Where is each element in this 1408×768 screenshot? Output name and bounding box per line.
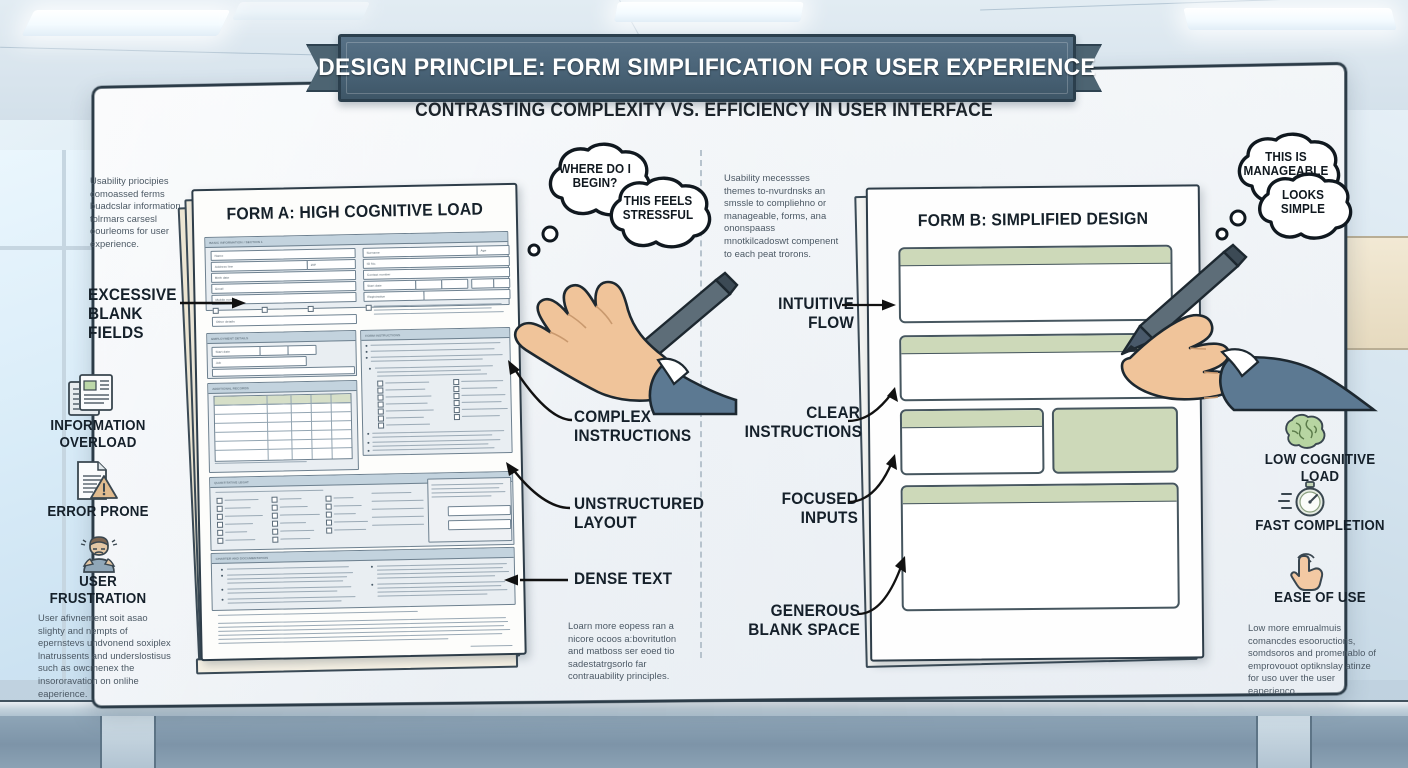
- arrow-to-intuitive-flow: [842, 297, 898, 313]
- form-a-field[interactable]: ZIP: [307, 259, 356, 270]
- form-a-field[interactable]: [448, 519, 511, 530]
- right-top-blurb: Usability mecessses themes to-nvurdnsks …: [724, 172, 840, 260]
- arrow-to-clear-instructions: [848, 383, 906, 425]
- form-a-checkbox[interactable]: [377, 380, 384, 387]
- form-a-checkbox[interactable]: [453, 379, 460, 386]
- feature-label-error-prone: ERROR PRONE: [30, 504, 166, 521]
- frustrated-user-icon: [74, 534, 124, 574]
- feature-label-information-overload: INFORMATION OVERLOAD: [30, 418, 166, 452]
- arrow-to-blank-fields: [178, 296, 248, 310]
- page-subtitle: CONTRASTING COMPLEXITY VS. EFFICIENCY IN…: [56, 100, 1351, 122]
- feature-label-fast-completion: FAST COMPLETION: [1245, 518, 1396, 535]
- form-a-checkbox[interactable]: [453, 393, 460, 400]
- form-a-sheet: FORM A: HIGH COGNITIVE LOAD BASIC INFORM…: [191, 183, 526, 661]
- form-a-field[interactable]: [415, 279, 442, 290]
- arrow-to-generous-blank-space: [854, 552, 916, 620]
- ribbon-body: DESIGN PRINCIPLE: FORM SIMPLIFICATION FO…: [338, 34, 1076, 102]
- form-a-checkbox[interactable]: [377, 387, 384, 394]
- form-a-checkbox[interactable]: [454, 414, 461, 421]
- desk-front: [0, 716, 1408, 768]
- form-a-checkbox[interactable]: [454, 407, 461, 414]
- arrow-to-dense-text: [500, 568, 570, 588]
- form-b-field-label: [903, 485, 1177, 505]
- form-b-filled-block[interactable]: [1052, 407, 1179, 474]
- form-a-field[interactable]: [441, 279, 468, 290]
- thought-bubble-dots-right: [1210, 208, 1254, 248]
- hand-left-writing: [478, 244, 738, 414]
- form-a-checkbox[interactable]: [272, 529, 279, 536]
- documents-stack-icon: [66, 372, 126, 418]
- page-title: DESIGN PRINCIPLE: FORM SIMPLIFICATION FO…: [318, 54, 1096, 82]
- ceiling-light-2: [232, 2, 370, 20]
- desk-leg-left: [100, 716, 156, 768]
- callout-intuitive-flow: INTUITIVE FLOW: [752, 295, 854, 333]
- form-a-field[interactable]: [287, 345, 316, 356]
- document-warning-icon: [72, 460, 124, 502]
- form-a-checkbox[interactable]: [217, 530, 224, 537]
- callout-clear-instructions: CLEAR INSTRUCTIONS: [745, 404, 860, 442]
- form-a-checkbox[interactable]: [378, 415, 385, 422]
- callout-focused-inputs: FOCUSED INPUTS: [752, 490, 858, 528]
- hand-right-writing: [1078, 230, 1378, 410]
- form-a-checkbox[interactable]: [325, 496, 332, 503]
- callout-dense-text: DENSE TEXT: [574, 570, 695, 589]
- form-a-checkbox[interactable]: [326, 504, 333, 511]
- form-a-field[interactable]: Address line: [211, 260, 308, 272]
- feature-label-user-frustration: USER FRUSTRATION: [30, 574, 166, 608]
- form-a-checkbox[interactable]: [272, 537, 279, 544]
- form-a-checkbox[interactable]: [366, 305, 373, 312]
- form-b-title: FORM B: SIMPLIFIED DESIGN: [880, 209, 1187, 232]
- form-a-field[interactable]: [259, 345, 288, 356]
- form-a-checkbox[interactable]: [326, 520, 333, 527]
- form-a-checkbox[interactable]: [378, 401, 385, 408]
- form-a-checkbox[interactable]: [271, 497, 278, 504]
- form-a-checkbox[interactable]: [272, 513, 279, 520]
- brain-icon: [1282, 412, 1328, 450]
- form-a-checkbox[interactable]: [217, 506, 224, 513]
- center-blurb: Loarn more eopess ran a nicore ocoos a:b…: [568, 620, 682, 683]
- feature-label-ease-of-use: EASE OF USE: [1245, 590, 1396, 607]
- thought-bubble-text-4: LOOKS SIMPLE: [1256, 188, 1351, 216]
- form-a-checkbox[interactable]: [378, 408, 385, 415]
- left-bottom-blurb: User afivnement soit asao slighty and ne…: [38, 612, 176, 700]
- form-a-checkbox[interactable]: [377, 394, 384, 401]
- thought-bubble-dots-left: [520, 224, 566, 264]
- form-a-checkbox[interactable]: [217, 538, 224, 545]
- form-a-checkbox[interactable]: [262, 307, 269, 314]
- right-bottom-blurb: Low more emrualmuis comancdes esooructio…: [1248, 622, 1384, 698]
- form-a-checkbox[interactable]: [217, 514, 224, 521]
- form-a-checkbox[interactable]: [326, 528, 333, 535]
- form-b-field-label: [902, 410, 1042, 428]
- arrow-to-unstructured-layout: [500, 460, 574, 516]
- ceiling-light-1: [22, 10, 231, 36]
- ceiling-light-3: [614, 2, 804, 22]
- infographic-canvas: DESIGN PRINCIPLE: FORM SIMPLIFICATION FO…: [0, 0, 1408, 768]
- tap-hand-icon: [1288, 546, 1328, 588]
- form-a-checkbox[interactable]: [217, 522, 224, 529]
- arrow-to-focused-inputs: [848, 450, 906, 508]
- form-a-checkbox[interactable]: [308, 306, 315, 313]
- form-a-checkbox[interactable]: [272, 521, 279, 528]
- form-b-field-block-4[interactable]: [901, 483, 1180, 612]
- callout-generous-blank-space: GENEROUS BLANK SPACE: [737, 602, 860, 640]
- form-a-checkbox[interactable]: [453, 386, 460, 393]
- form-a-table: [213, 393, 352, 462]
- form-a-field[interactable]: Job: [212, 356, 307, 368]
- form-a-field[interactable]: Start date: [363, 280, 416, 291]
- form-b-field-block-3[interactable]: [900, 408, 1045, 475]
- stopwatch-icon: [1278, 480, 1330, 518]
- form-a-checkbox[interactable]: [272, 505, 279, 512]
- form-a-checkbox[interactable]: [326, 512, 333, 519]
- form-a-checkbox[interactable]: [378, 422, 385, 429]
- form-a-field[interactable]: Registration: [363, 291, 424, 302]
- title-ribbon: DESIGN PRINCIPLE: FORM SIMPLIFICATION FO…: [312, 34, 1096, 96]
- ceiling-light-4: [1183, 8, 1396, 30]
- form-a-checkbox[interactable]: [454, 400, 461, 407]
- thought-bubble-text-2: THIS FEELS STRESSFUL: [608, 194, 708, 222]
- form-a-field[interactable]: Other details: [212, 314, 357, 327]
- form-a-title: FORM A: HIGH COGNITIVE LOAD: [205, 199, 505, 225]
- desk-leg-right: [1256, 716, 1312, 768]
- callout-excessive-blank-fields: EXCESSIVE BLANK FIELDS: [88, 286, 200, 343]
- form-a-field[interactable]: Start date: [211, 346, 260, 357]
- callout-unstructured-layout: UNSTRUCTURED LAYOUT: [574, 495, 704, 533]
- form-a-checkbox[interactable]: [216, 498, 223, 505]
